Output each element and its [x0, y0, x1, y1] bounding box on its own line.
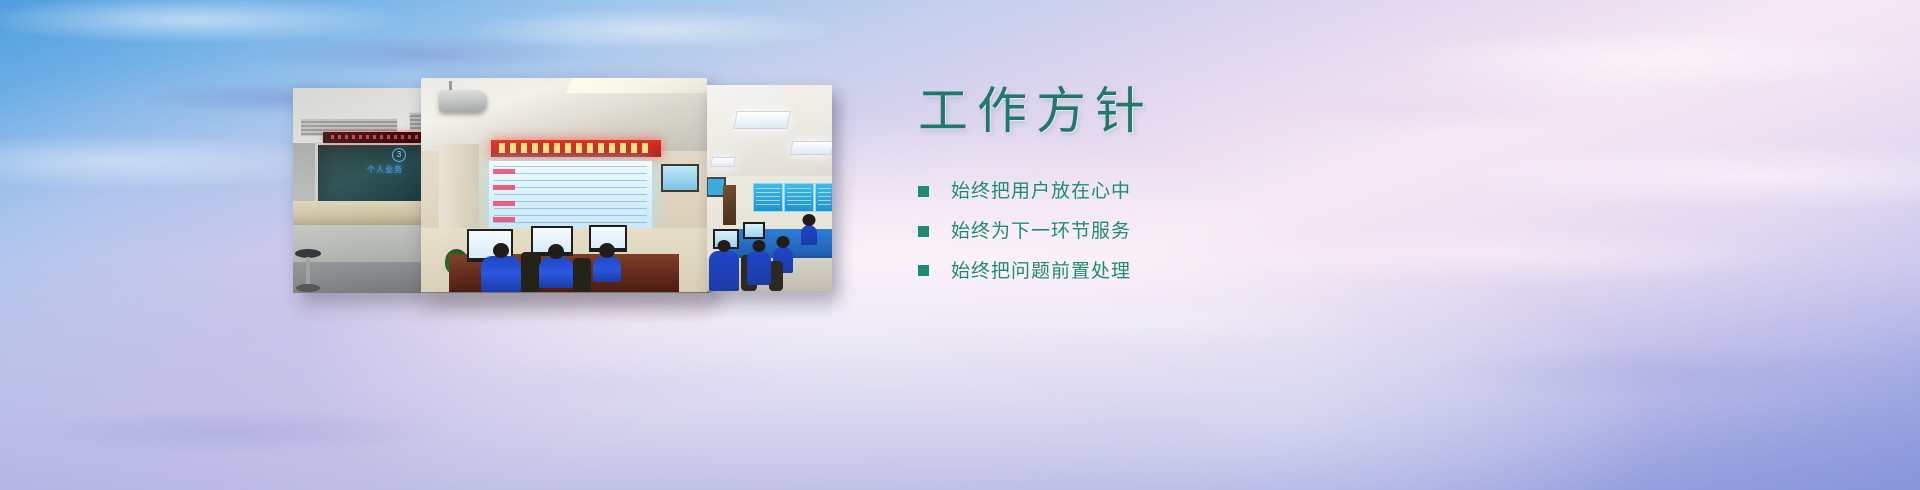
red-led-banner: [491, 140, 661, 157]
dispatch-center-scene: [421, 78, 707, 292]
desk-monitor: [743, 222, 765, 239]
seated-operator: [801, 225, 817, 245]
dispatch-center-photo: [421, 78, 707, 292]
counter-service-label: 个人业务: [367, 164, 403, 175]
video-wall-rows: [494, 166, 647, 234]
square-bullet-icon: [918, 265, 929, 276]
side-monitor: [661, 164, 699, 192]
list-item: 始终把问题前置处理: [900, 260, 1420, 283]
ceiling-lamp: [710, 157, 736, 167]
page-title: 工作方针: [918, 86, 1420, 136]
seated-worker: [481, 256, 521, 292]
ceiling-projector: [439, 90, 487, 112]
seated-worker: [593, 256, 621, 282]
photo-collage: 3 个人业务 对公业务: [0, 0, 900, 400]
list-item-label: 始终把问题前置处理: [951, 260, 1131, 283]
seated-operator: [709, 251, 739, 291]
photo-reflection: [293, 293, 711, 351]
room-door: [723, 185, 736, 225]
skylight: [565, 78, 707, 93]
video-wall-tags: [493, 169, 515, 231]
list-item-label: 始终为下一环节服务: [951, 220, 1131, 243]
wall-info-board: [815, 183, 832, 212]
office-chair: [769, 261, 783, 291]
policy-bullet-list: 始终把用户放在心中 始终为下一环节服务 始终把问题前置处理: [900, 180, 1420, 282]
counter-number-badge: 3: [392, 148, 406, 162]
list-item: 始终把用户放在心中: [900, 180, 1420, 203]
ceiling-lamp: [733, 111, 791, 129]
photo-reflection: [707, 291, 832, 341]
square-bullet-icon: [918, 226, 929, 237]
wall-info-board: [784, 183, 814, 212]
seated-worker: [539, 257, 573, 288]
banner-text-block: 工作方针 始终把用户放在心中 始终为下一环节服务 始终把问题前置处理: [900, 86, 1420, 282]
seated-operator: [747, 251, 771, 285]
list-item-label: 始终把用户放在心中: [951, 180, 1131, 203]
operator-room-scene: [707, 85, 832, 291]
square-bullet-icon: [918, 186, 929, 197]
ceiling-lamp: [790, 141, 832, 155]
office-chair: [573, 258, 591, 292]
wall-info-board: [753, 183, 783, 212]
office-chair: [521, 252, 541, 292]
photo-reflection: [421, 292, 707, 346]
list-item: 始终为下一环节服务: [900, 220, 1420, 243]
operator-room-photo: [707, 85, 832, 291]
hero-banner: 3 个人业务 对公业务: [0, 0, 1920, 490]
